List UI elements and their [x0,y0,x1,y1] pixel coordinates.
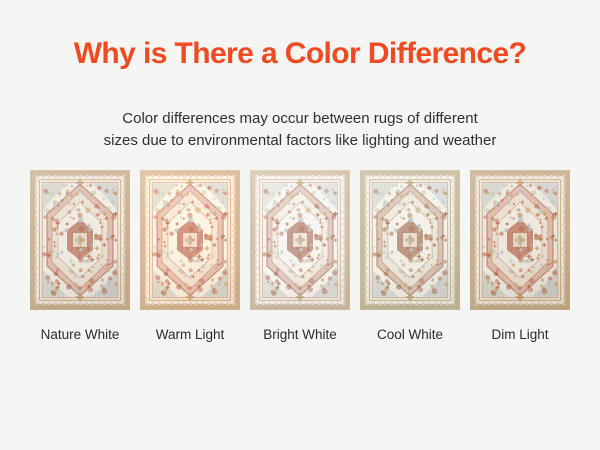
swatch-label: Bright White [263,326,337,344]
rug-image-bright-white [250,170,350,310]
swatch-dim-light: Dim Light [470,170,570,344]
swatch-nature-white: Nature White [30,170,130,344]
swatch-label: Nature White [41,326,120,344]
swatch-bright-white: Bright White [250,170,350,344]
subtitle-line-2: sizes due to environmental factors like … [50,130,550,152]
swatch-warm-light: Warm Light [140,170,240,344]
rug-image-warm-light [140,170,240,310]
rug-image-nature-white [30,170,130,310]
promo-banner: Why is There a Color Difference? Color d… [0,0,600,450]
rug-image-dim-light [470,170,570,310]
swatch-label: Cool White [377,326,443,344]
rug-image-cool-white [360,170,460,310]
swatch-label: Dim Light [491,326,548,344]
subtitle-line-1: Color differences may occur between rugs… [122,110,477,127]
page-subtitle: Color differences may occur between rugs… [50,108,550,152]
swatch-cool-white: Cool White [360,170,460,344]
page-title: Why is There a Color Difference? [0,36,600,72]
lighting-comparison-row: Nature White Warm Light Bright White Coo… [30,170,570,344]
swatch-label: Warm Light [156,326,225,344]
